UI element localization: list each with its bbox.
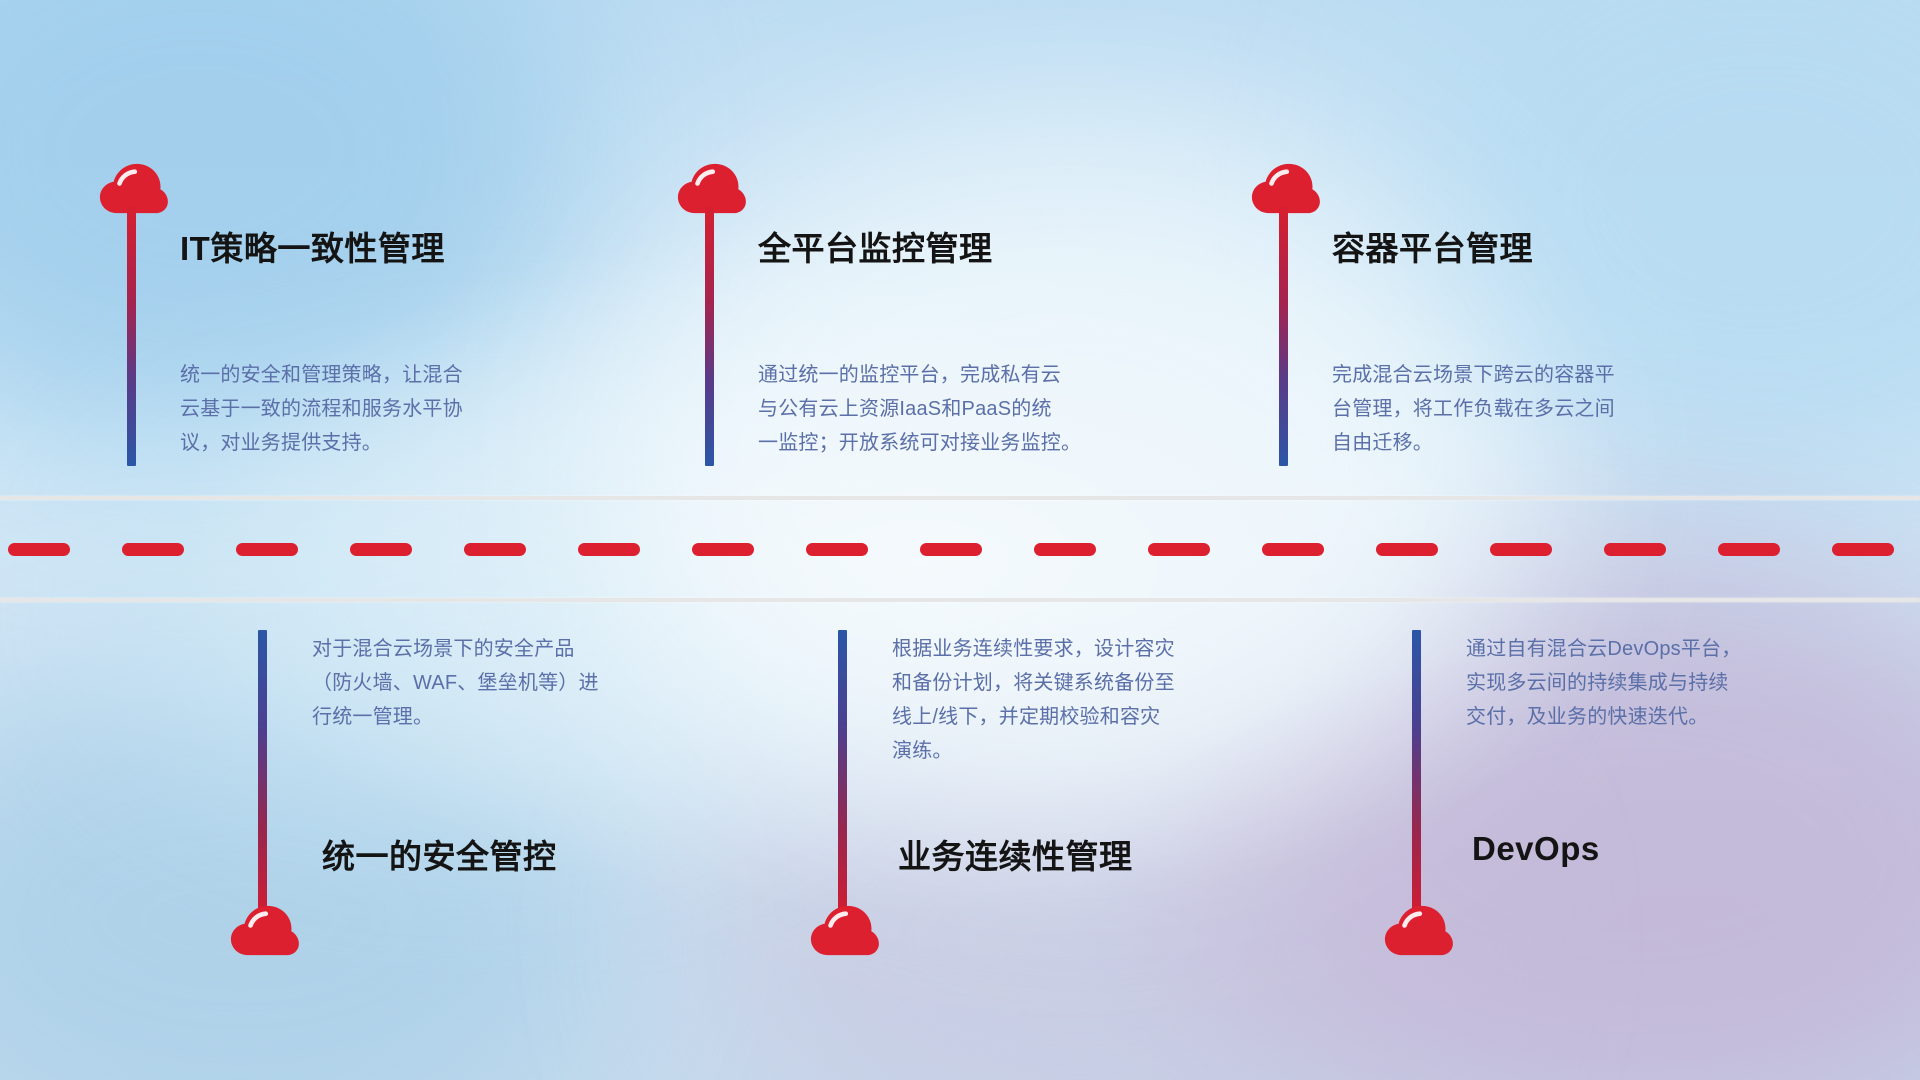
timeline-pole: [838, 630, 847, 912]
card-heading: 全平台监控管理: [758, 222, 993, 270]
road-dashed-centerline: [0, 543, 1920, 556]
road-dash-segment: [1718, 543, 1780, 556]
timeline-pole: [258, 630, 267, 912]
timeline-pole: [1279, 206, 1288, 466]
card-body: 完成混合云场景下跨云的容器平 台管理，将工作负载在多云之间 自由迁移。: [1332, 358, 1615, 460]
card-body: 通过统一的监控平台，完成私有云 与公有云上资源IaaS和PaaS的统 一监控；开…: [758, 358, 1081, 460]
road-dash-segment: [692, 543, 754, 556]
card-body: 统一的安全和管理策略，让混合 云基于一致的流程和服务水平协 议，对业务提供支持。: [180, 358, 463, 460]
card-heading: 容器平台管理: [1332, 222, 1533, 270]
timeline-pole: [127, 206, 136, 466]
card-heading: 统一的安全管控: [322, 830, 557, 878]
road-dash-segment: [1604, 543, 1666, 556]
road-dash-segment: [578, 543, 640, 556]
card-heading: DevOps: [1472, 830, 1600, 868]
card-body: 对于混合云场景下的安全产品 （防火墙、WAF、堡垒机等）进 行统一管理。: [312, 632, 599, 734]
road-line-top: [0, 496, 1920, 500]
road-dash-segment: [1832, 543, 1894, 556]
road-dash-segment: [1262, 543, 1324, 556]
road-dash-segment: [1376, 543, 1438, 556]
road-dash-segment: [1490, 543, 1552, 556]
card-heading: 业务连续性管理: [898, 830, 1133, 878]
road-dash-segment: [806, 543, 868, 556]
road-line-bottom: [0, 598, 1920, 602]
cloud-icon: [226, 900, 300, 958]
road-dash-segment: [8, 543, 70, 556]
timeline-pole: [705, 206, 714, 466]
road-dash-segment: [1034, 543, 1096, 556]
road-dash-segment: [464, 543, 526, 556]
cloud-icon: [1380, 900, 1454, 958]
road-dash-segment: [920, 543, 982, 556]
infographic-canvas: IT策略一致性管理 统一的安全和管理策略，让混合 云基于一致的流程和服务水平协 …: [0, 0, 1920, 1080]
cloud-icon: [806, 900, 880, 958]
timeline-pole: [1412, 630, 1421, 912]
road-dash-segment: [1148, 543, 1210, 556]
card-heading: IT策略一致性管理: [180, 222, 445, 270]
road-dash-segment: [122, 543, 184, 556]
card-body: 根据业务连续性要求，设计容灾 和备份计划，将关键系统备份至 线上/线下，并定期校…: [892, 632, 1175, 768]
card-body: 通过自有混合云DevOps平台， 实现多云间的持续集成与持续 交付，及业务的快速…: [1466, 632, 1741, 734]
road-dash-segment: [350, 543, 412, 556]
road-dash-segment: [236, 543, 298, 556]
